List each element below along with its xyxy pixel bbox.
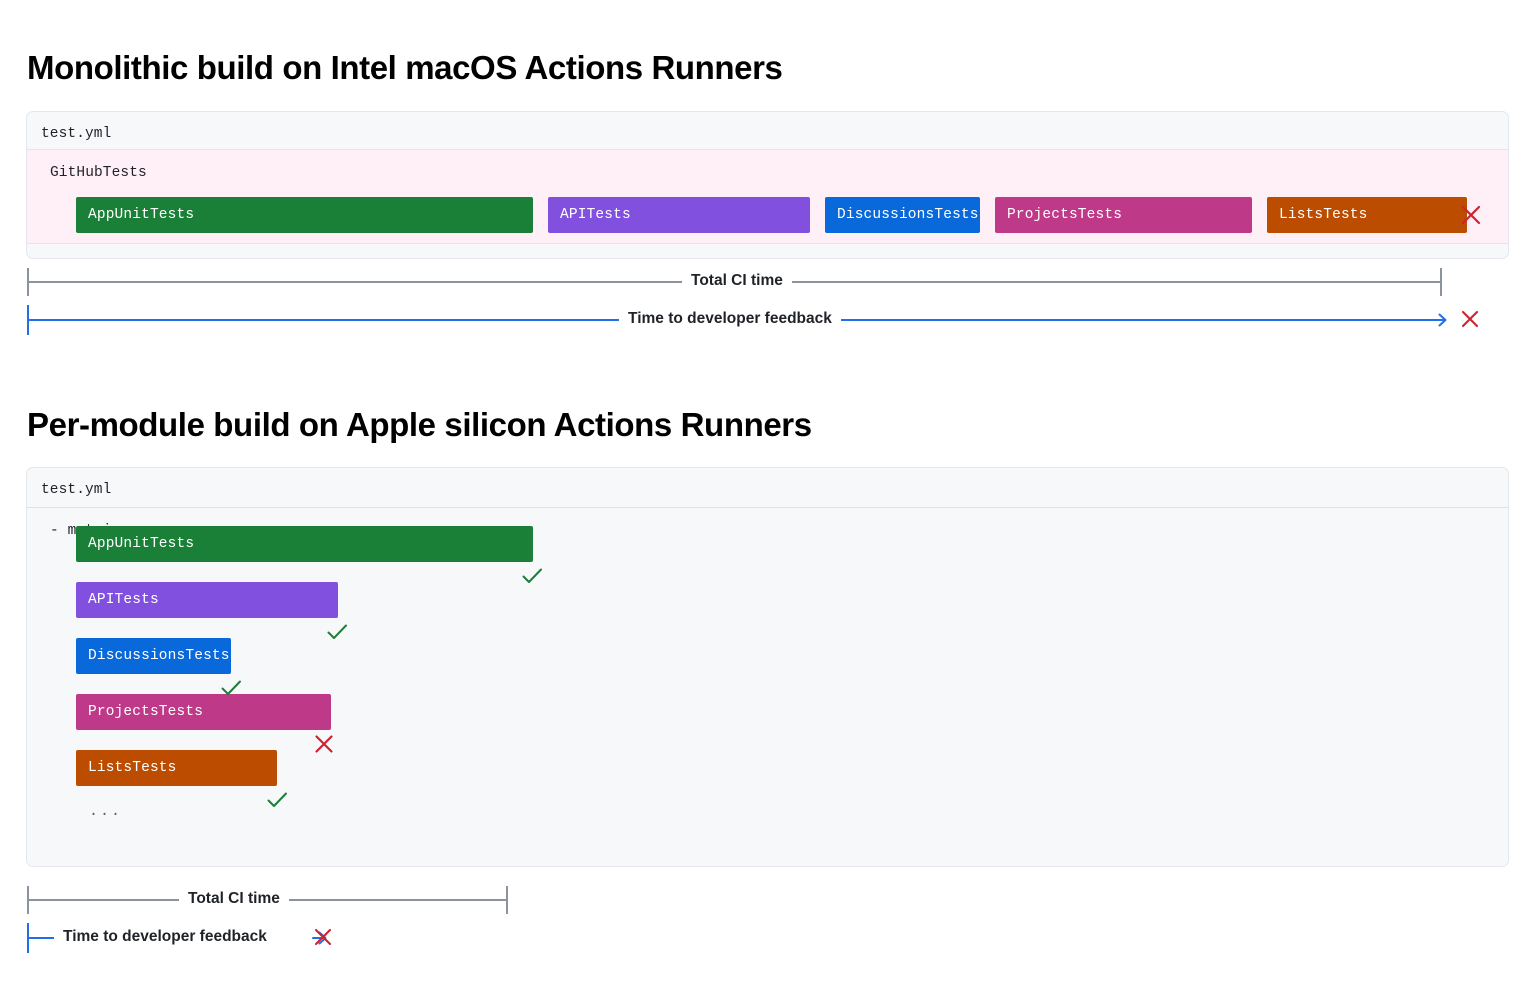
job-bar-label: DiscussionsTests: [88, 648, 230, 664]
job-bar-label: DiscussionsTests: [837, 207, 979, 223]
job-bar-appunittests[interactable]: AppUnitTests: [76, 526, 533, 562]
check-icon: [264, 787, 290, 813]
job-bar-label: APITests: [88, 592, 159, 608]
total-ci-time-measure-monolithic: Total CI time: [27, 265, 1442, 299]
more-jobs-indicator: ...: [89, 803, 122, 820]
job-group-label: GitHubTests: [50, 165, 147, 181]
section-title-per-module: Per-module build on Apple silicon Action…: [27, 406, 812, 444]
job-bar-label: AppUnitTests: [88, 207, 194, 223]
check-icon: [218, 675, 244, 701]
job-bar-label: ProjectsTests: [88, 704, 203, 720]
job-bar-label: APITests: [560, 207, 631, 223]
file-label: test.yml: [41, 482, 111, 498]
check-icon: [324, 619, 350, 645]
job-bar-apitests[interactable]: APITests: [76, 582, 338, 618]
total-ci-time-measure-per-module: Total CI time: [27, 883, 508, 917]
x-icon: [1458, 307, 1482, 331]
total-ci-time-label: Total CI time: [179, 890, 289, 907]
job-bar-label: ListsTests: [88, 760, 177, 776]
job-bar-label: AppUnitTests: [88, 536, 194, 552]
job-bar-liststests[interactable]: ListsTests: [1267, 197, 1467, 233]
measure-cap-right: [506, 886, 508, 914]
job-bar-projectstests[interactable]: ProjectsTests: [995, 197, 1252, 233]
job-bar-apitests[interactable]: APITests: [548, 197, 810, 233]
x-icon: [1458, 202, 1484, 228]
section-title-monolithic: Monolithic build on Intel macOS Actions …: [27, 49, 783, 87]
check-icon: [519, 563, 545, 589]
workflow-card-monolithic: test.yml GitHubTests AppUnitTests APITes…: [26, 111, 1509, 259]
developer-feedback-measure-monolithic: Time to developer feedback: [27, 303, 1445, 337]
job-group-githubtests: GitHubTests AppUnitTests APITests Discus…: [27, 149, 1508, 244]
workflow-card-per-module: test.yml - matrix: AppUnitTests APITests…: [26, 467, 1509, 867]
job-bar-label: ListsTests: [1279, 207, 1368, 223]
job-bar-projectstests[interactable]: ProjectsTests: [76, 694, 331, 730]
job-bar-appunittests[interactable]: AppUnitTests: [76, 197, 533, 233]
feedback-label: Time to developer feedback: [54, 928, 276, 945]
diagram-canvas: Monolithic build on Intel macOS Actions …: [0, 0, 1535, 993]
feedback-label: Time to developer feedback: [619, 310, 841, 327]
job-group-matrix: - matrix: AppUnitTests APITests Discussi…: [27, 507, 1508, 867]
measure-cap-right: [1440, 268, 1442, 296]
job-bar-liststests[interactable]: ListsTests: [76, 750, 277, 786]
job-bar-label: ProjectsTests: [1007, 207, 1122, 223]
job-bar-discussionstests[interactable]: DiscussionsTests: [825, 197, 980, 233]
x-icon: [311, 925, 335, 949]
file-label: test.yml: [41, 126, 111, 142]
developer-feedback-measure-per-module: Time to developer feedback: [27, 921, 327, 955]
total-ci-time-label: Total CI time: [682, 272, 792, 289]
job-bar-discussionstests[interactable]: DiscussionsTests: [76, 638, 231, 674]
x-icon: [311, 731, 337, 757]
arrow-right-icon: [1432, 311, 1448, 329]
